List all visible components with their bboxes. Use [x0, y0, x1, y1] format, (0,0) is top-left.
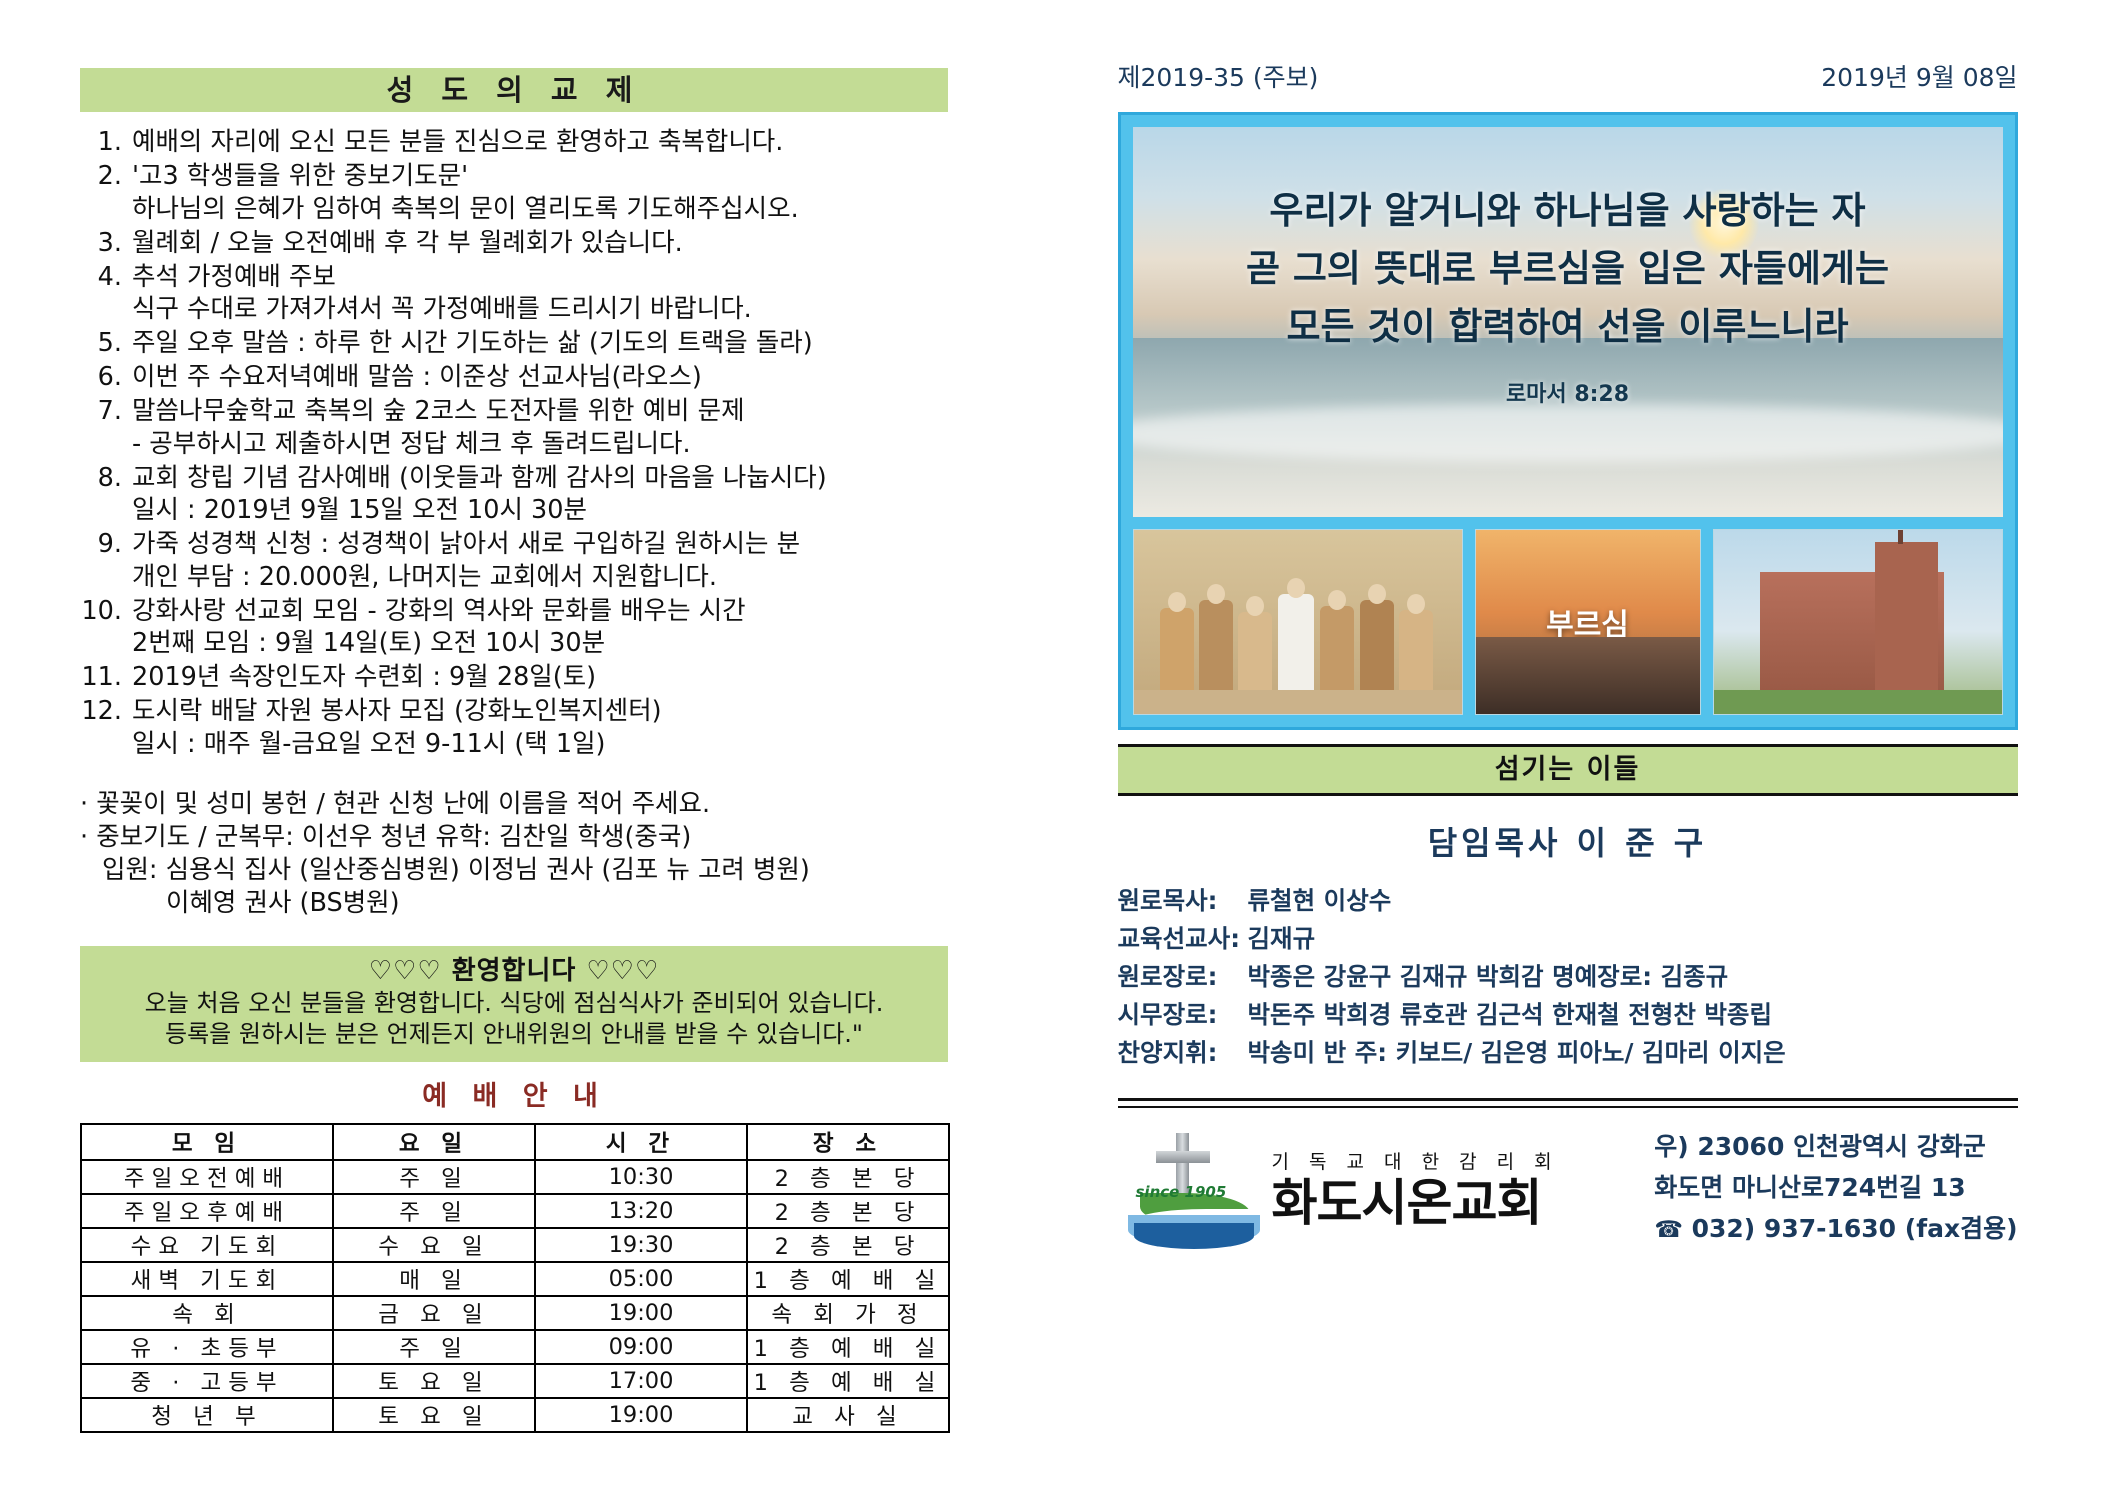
church-logo: since 1905 기 독 교 대 한 감 리 회 화도시온교회: [1118, 1131, 1559, 1246]
phone-icon: ☎: [1654, 1217, 1683, 1243]
notice-item: 7.말씀나무숲학교 축복의 숲 2코스 도전자를 위한 예비 문제- 공부하시고…: [80, 395, 980, 460]
notice-body: 추석 가정예배 주보식구 수대로 가져가셔서 꼭 가정예배를 드리시기 바랍니다…: [132, 261, 980, 326]
staff-names: 김재규: [1248, 924, 1316, 953]
bullet-hospitalized-1: 입원: 심용식 집사 (일산중심병원) 이정님 권사 (김포 뉴 고려 병원): [80, 854, 980, 887]
notice-main-line: 교회 창립 기념 감사예배 (이웃들과 함께 감사의 마음을 나눕시다): [132, 462, 980, 495]
bullet-flower-offering: · 꽃꽂이 및 성미 봉헌 / 현관 신청 난에 이름을 적어 주세요.: [80, 788, 980, 821]
notice-item: 2.'고3 학생들을 위한 중보기도문'하나님의 은혜가 임하여 축복의 문이 …: [80, 160, 980, 225]
notice-number: 3.: [80, 227, 132, 260]
church-name: 화도시온교회: [1272, 1176, 1559, 1230]
table-column-header: 시 간: [535, 1124, 747, 1160]
table-body: 주일오전예배주 일10:302 층 본 당주일오후예배주 일13:202 층 본…: [81, 1160, 949, 1432]
notice-number: 10.: [80, 595, 132, 660]
staff-row: 찬양지휘:박송미 반 주: 키보드/ 김은영 피아노/ 김마리 이지은: [1118, 1034, 2018, 1072]
table-cell: 2 층 본 당: [747, 1194, 949, 1228]
table-cell: 속 회: [81, 1296, 333, 1330]
notice-number: 4.: [80, 261, 132, 326]
staff-role: 시무장로:: [1118, 996, 1248, 1034]
address-line-1: 우) 23060 인천광역시 강화군: [1654, 1126, 2017, 1167]
table-cell: 청 년 부: [81, 1398, 333, 1432]
wave-dark-icon: [1134, 1223, 1254, 1249]
bulletin-header: 제2019-35 (주보) 2019년 9월 08일: [1118, 58, 2018, 94]
notice-main-line: 말씀나무숲학교 축복의 숲 2코스 도전자를 위한 예비 문제: [132, 395, 980, 428]
notice-body: 예배의 자리에 오신 모든 분들 진심으로 환영하고 축복합니다.: [132, 126, 980, 159]
lawn-strip: [1714, 690, 2002, 714]
worship-schedule-table: 모 임요 일시 간장 소 주일오전예배주 일10:302 층 본 당주일오후예배…: [80, 1123, 950, 1433]
notice-body: 도시락 배달 자원 봉사자 모집 (강화노인복지센터)일시 : 매주 월-금요일…: [132, 695, 980, 760]
notice-body: 교회 창립 기념 감사예배 (이웃들과 함께 감사의 마음을 나눕시다)일시 :…: [132, 462, 980, 527]
table-cell: 1 층 예 배 실: [747, 1330, 949, 1364]
table-cell: 1 층 예 배 실: [747, 1262, 949, 1296]
notice-sub-line: 일시 : 매주 월-금요일 오전 9-11시 (택 1일): [132, 728, 980, 761]
notice-list: 1.예배의 자리에 오신 모든 분들 진심으로 환영하고 축복합니다.2.'고3…: [80, 126, 980, 760]
notice-main-line: 2019년 속장인도자 수련회 : 9월 28일(토): [132, 661, 980, 694]
table-cell: 17:00: [535, 1364, 747, 1398]
table-cell: 10:30: [535, 1160, 747, 1194]
table-cell: 2 층 본 당: [747, 1160, 949, 1194]
notice-body: 주일 오후 말씀 : 하루 한 시간 기도하는 삶 (기도의 트랙을 돌라): [132, 327, 980, 360]
table-cell: 09:00: [535, 1330, 747, 1364]
verse-line-2: 곧 그의 뜻대로 부르심을 입은 자들에게는: [1133, 240, 2003, 298]
staff-row: 원로목사:류철현 이상수: [1118, 882, 2018, 920]
denomination-label: 기 독 교 대 한 감 리 회: [1272, 1147, 1559, 1174]
welcome-line-2: 등록을 원하시는 분은 언제든지 안내위원의 안내를 받을 수 있습니다.": [80, 1019, 948, 1050]
verse-line-1: 우리가 알거니와 하나님을 사랑하는 자: [1133, 182, 2003, 240]
notice-item: 5.주일 오후 말씀 : 하루 한 시간 기도하는 삶 (기도의 트랙을 돌라): [80, 327, 980, 360]
thumbnail-row: 부르심: [1133, 529, 2003, 715]
beach-sunset-photo: 우리가 알거니와 하나님을 사랑하는 자 곧 그의 뜻대로 부르심을 입은 자들…: [1133, 127, 2003, 517]
notice-item: 1.예배의 자리에 오신 모든 분들 진심으로 환영하고 축복합니다.: [80, 126, 980, 159]
staff-names: 박종은 강윤구 김재규 박희감 명예장로: 김종규: [1248, 962, 1729, 991]
worship-guide-title: 예 배 안 내: [80, 1074, 948, 1113]
table-column-header: 요 일: [333, 1124, 535, 1160]
notice-main-line: 강화사랑 선교회 모임 - 강화의 역사와 문화를 배우는 시간: [132, 595, 980, 628]
notice-item: 4.추석 가정예배 주보식구 수대로 가져가셔서 꼭 가정예배를 드리시기 바랍…: [80, 261, 980, 326]
table-cell: 2 층 본 당: [747, 1228, 949, 1262]
table-column-header: 장 소: [747, 1124, 949, 1160]
table-row: 주일오전예배주 일10:302 층 본 당: [81, 1160, 949, 1194]
table-cell: 유 · 초등부: [81, 1330, 333, 1364]
prayer-bullets: · 꽃꽂이 및 성미 봉헌 / 현관 신청 난에 이름을 적어 주세요. · 중…: [80, 788, 980, 920]
notice-sub-line: - 공부하시고 제출하시면 정답 체크 후 돌려드립니다.: [132, 428, 980, 461]
notice-number: 2.: [80, 160, 132, 225]
fellowship-section-title: 성 도 의 교 제: [80, 68, 948, 112]
church-tower: [1875, 542, 1938, 692]
church-building-photo: [1713, 529, 2003, 715]
table-cell: 주일오전예배: [81, 1160, 333, 1194]
verse-line-3: 모든 것이 합력하여 선을 이루느니라: [1133, 298, 2003, 356]
table-row: 주일오후예배주 일13:202 층 본 당: [81, 1194, 949, 1228]
notice-main-line: 예배의 자리에 오신 모든 분들 진심으로 환영하고 축복합니다.: [132, 126, 980, 159]
table-row: 새벽 기도회매 일05:001 층 예 배 실: [81, 1262, 949, 1296]
table-header-row: 모 임요 일시 간장 소: [81, 1124, 949, 1160]
notice-main-line: 도시락 배달 자원 봉사자 모집 (강화노인복지센터): [132, 695, 980, 728]
staff-names: 박돈주 박희경 류호관 김근석 한재철 전형찬 박종립: [1248, 1000, 1773, 1029]
table-cell: 주 일: [333, 1194, 535, 1228]
figure-icon: [1360, 600, 1394, 704]
bullet-intercession: · 중보기도 / 군복무: 이선우 청년 유학: 김찬일 학생(중국): [80, 821, 980, 854]
table-column-header: 모 임: [81, 1124, 333, 1160]
notice-number: 8.: [80, 462, 132, 527]
staff-role: 원로장로:: [1118, 958, 1248, 996]
table-cell: 주일오후예배: [81, 1194, 333, 1228]
table-cell: 토 요 일: [333, 1364, 535, 1398]
disciples-illustration: [1133, 529, 1463, 715]
verse-reference: 로마서 8:28: [1133, 376, 2003, 408]
notice-item: 11.2019년 속장인도자 수련회 : 9월 28일(토): [80, 661, 980, 694]
notice-number: 11.: [80, 661, 132, 694]
cross-bar-icon: [1156, 1151, 1210, 1163]
phone-line: ☎ 032) 937-1630 (fax겸용): [1654, 1208, 2017, 1251]
notice-number: 5.: [80, 327, 132, 360]
notice-item: 9.가죽 성경책 신청 : 성경책이 낡아서 새로 구입하길 원하시는 분개인 …: [80, 528, 980, 593]
bullet-hospitalized-2: 이혜영 권사 (BS병원): [80, 887, 980, 920]
jesus-figure-icon: [1278, 594, 1314, 704]
table-cell: 19:00: [535, 1398, 747, 1432]
table-row: 중 · 고등부토 요 일17:001 층 예 배 실: [81, 1364, 949, 1398]
phone-number: 032) 937-1630 (fax겸용): [1692, 1214, 2018, 1243]
bible-verse-overlay: 우리가 알거니와 하나님을 사랑하는 자 곧 그의 뜻대로 부르심을 입은 자들…: [1133, 182, 2003, 408]
notice-body: 강화사랑 선교회 모임 - 강화의 역사와 문화를 배우는 시간2번째 모임 :…: [132, 595, 980, 660]
table-cell: 수요 기도회: [81, 1228, 333, 1262]
notice-sub-line: 하나님의 은혜가 임하여 축복의 문이 열리도록 기도해주십시오.: [132, 193, 980, 226]
table-cell: 토 요 일: [333, 1398, 535, 1432]
table-row: 유 · 초등부주 일09:001 층 예 배 실: [81, 1330, 949, 1364]
notice-item: 6.이번 주 수요저녁예배 말씀 : 이준상 선교사님(라오스): [80, 361, 980, 394]
notice-sub-line: 식구 수대로 가져가셔서 꼭 가정예배를 드리시기 바랍니다.: [132, 293, 980, 326]
notice-body: 월례회 / 오늘 오전예배 후 각 부 월례회가 있습니다.: [132, 227, 980, 260]
notice-number: 6.: [80, 361, 132, 394]
staff-list: 원로목사:류철현 이상수교육선교사:김재규원로장로:박종은 강윤구 김재규 박희…: [1118, 882, 2018, 1072]
staff-role: 원로목사:: [1118, 882, 1248, 920]
notice-item: 10.강화사랑 선교회 모임 - 강화의 역사와 문화를 배우는 시간2번째 모…: [80, 595, 980, 660]
wave-foam: [1133, 404, 2003, 462]
table-cell: 중 · 고등부: [81, 1364, 333, 1398]
notice-body: 이번 주 수요저녁예배 말씀 : 이준상 선교사님(라오스): [132, 361, 980, 394]
notice-main-line: 월례회 / 오늘 오전예배 후 각 부 월례회가 있습니다.: [132, 227, 980, 260]
logo-mark-icon: since 1905: [1118, 1131, 1268, 1246]
church-cross-icon: [1898, 529, 1903, 544]
welcome-box: ♡♡♡ 환영합니다 ♡♡♡ 오늘 처음 오신 분들을 환영합니다. 식당에 점심…: [80, 946, 948, 1062]
cover-image-frame: 우리가 알거니와 하나님을 사랑하는 자 곧 그의 뜻대로 부르심을 입은 자들…: [1118, 112, 2018, 730]
notice-body: 말씀나무숲학교 축복의 숲 2코스 도전자를 위한 예비 문제- 공부하시고 제…: [132, 395, 980, 460]
table-cell: 05:00: [535, 1262, 747, 1296]
table-cell: 주 일: [333, 1160, 535, 1194]
notice-sub-line: 개인 부담 : 20.000원, 나머지는 교회에서 지원합니다.: [132, 561, 980, 594]
water-area: [1476, 637, 1700, 714]
staff-role: 찬양지휘:: [1118, 1034, 1248, 1072]
church-contact: 우) 23060 인천광역시 강화군 화도면 마니산로724번길 13 ☎ 03…: [1654, 1126, 2017, 1251]
welcome-line-1: 오늘 처음 오신 분들을 환영합니다. 식당에 점심식사가 준비되어 있습니다.: [80, 988, 948, 1019]
notice-main-line: 가죽 성경책 신청 : 성경책이 낡아서 새로 구입하길 원하시는 분: [132, 528, 980, 561]
since-label: since 1905: [1136, 1183, 1227, 1201]
notice-item: 12.도시락 배달 자원 봉사자 모집 (강화노인복지센터)일시 : 매주 월-…: [80, 695, 980, 760]
footer-divider: [1118, 1098, 2018, 1108]
table-row: 수요 기도회수 요 일19:302 층 본 당: [81, 1228, 949, 1262]
footer: since 1905 기 독 교 대 한 감 리 회 화도시온교회 우) 230…: [1118, 1126, 2018, 1251]
notice-main-line: '고3 학생들을 위한 중보기도문': [132, 160, 980, 193]
table-row: 청 년 부토 요 일19:00교 사 실: [81, 1398, 949, 1432]
table-row: 속 회금 요 일19:00속 회 가 정: [81, 1296, 949, 1330]
staff-role: 교육선교사:: [1118, 920, 1248, 958]
calling-photo: 부르심: [1475, 529, 1701, 715]
notice-number: 1.: [80, 126, 132, 159]
table-cell: 새벽 기도회: [81, 1262, 333, 1296]
table-cell: 19:30: [535, 1228, 747, 1262]
notice-sub-line: 2번째 모임 : 9월 14일(토) 오전 10시 30분: [132, 627, 980, 660]
ground-strip: [1134, 690, 1462, 714]
figure-icon: [1199, 600, 1233, 704]
notice-body: 가죽 성경책 신청 : 성경책이 낡아서 새로 구입하길 원하시는 분개인 부담…: [132, 528, 980, 593]
staff-row: 시무장로:박돈주 박희경 류호관 김근석 한재철 전형찬 박종립: [1118, 996, 2018, 1034]
senior-pastor-name: 담임목사 이 준 구: [1118, 818, 2018, 864]
notice-sub-line: 일시 : 2019년 9월 15일 오전 10시 30분: [132, 494, 980, 527]
table-cell: 속 회 가 정: [747, 1296, 949, 1330]
notice-main-line: 이번 주 수요저녁예배 말씀 : 이준상 선교사님(라오스): [132, 361, 980, 394]
staff-names: 류철현 이상수: [1248, 886, 1392, 915]
address-line-2: 화도면 마니산로724번길 13: [1654, 1167, 2017, 1208]
table-cell: 교 사 실: [747, 1398, 949, 1432]
notice-number: 12.: [80, 695, 132, 760]
table-cell: 매 일: [333, 1262, 535, 1296]
logo-text: 기 독 교 대 한 감 리 회 화도시온교회: [1272, 1147, 1559, 1230]
table-cell: 주 일: [333, 1330, 535, 1364]
bulletin-page: 성 도 의 교 제 1.예배의 자리에 오신 모든 분들 진심으로 환영하고 축…: [0, 0, 2105, 1488]
notice-main-line: 주일 오후 말씀 : 하루 한 시간 기도하는 삶 (기도의 트랙을 돌라): [132, 327, 980, 360]
right-column: 제2019-35 (주보) 2019년 9월 08일 우리가 알거니와 하나님을…: [1075, 0, 2105, 1488]
notice-body: 2019년 속장인도자 수련회 : 9월 28일(토): [132, 661, 980, 694]
notice-item: 8.교회 창립 기념 감사예배 (이웃들과 함께 감사의 마음을 나눕시다)일시…: [80, 462, 980, 527]
staff-row: 원로장로:박종은 강윤구 김재규 박희감 명예장로: 김종규: [1118, 958, 2018, 996]
notice-body: '고3 학생들을 위한 중보기도문'하나님의 은혜가 임하여 축복의 문이 열리…: [132, 160, 980, 225]
table-cell: 1 층 예 배 실: [747, 1364, 949, 1398]
table-cell: 19:00: [535, 1296, 747, 1330]
staff-row: 교육선교사:김재규: [1118, 920, 2018, 958]
notice-main-line: 추석 가정예배 주보: [132, 261, 980, 294]
issue-date: 2019년 9월 08일: [1821, 58, 2017, 94]
staff-names: 박송미 반 주: 키보드/ 김은영 피아노/ 김마리 이지은: [1248, 1038, 1786, 1067]
notice-item: 3.월례회 / 오늘 오전예배 후 각 부 월례회가 있습니다.: [80, 227, 980, 260]
left-column: 성 도 의 교 제 1.예배의 자리에 오신 모든 분들 진심으로 환영하고 축…: [0, 0, 1075, 1488]
table-cell: 수 요 일: [333, 1228, 535, 1262]
notice-number: 7.: [80, 395, 132, 460]
table-cell: 금 요 일: [333, 1296, 535, 1330]
notice-number: 9.: [80, 528, 132, 593]
welcome-title: ♡♡♡ 환영합니다 ♡♡♡: [80, 954, 948, 988]
table-cell: 13:20: [535, 1194, 747, 1228]
issue-number: 제2019-35 (주보): [1118, 58, 1319, 94]
servants-section-title: 섬기는 이들: [1118, 744, 2018, 796]
